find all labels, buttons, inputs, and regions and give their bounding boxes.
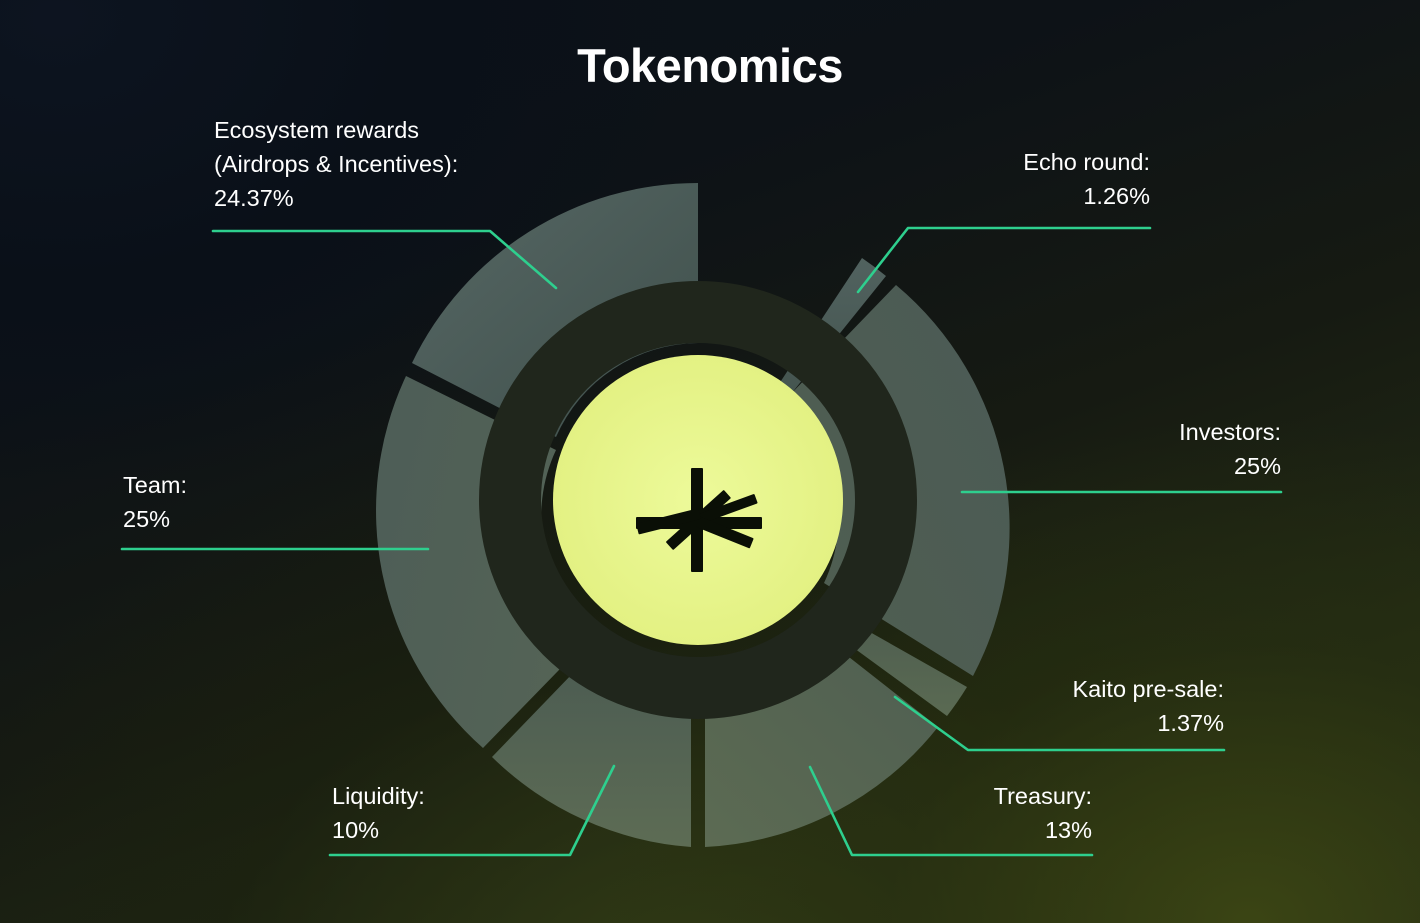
label-echo-round-value: 1.26%	[830, 179, 1150, 213]
label-team-line1: Team:	[123, 468, 187, 502]
label-liquidity-line1: Liquidity:	[332, 779, 425, 813]
leader-line-echo	[858, 228, 1150, 292]
label-treasury: Treasury: 13%	[772, 779, 1092, 847]
label-kaito-presale: Kaito pre-sale: 1.37%	[884, 672, 1224, 740]
label-team: Team: 25%	[123, 468, 187, 536]
label-echo-round-line1: Echo round:	[830, 145, 1150, 179]
label-investors-value: 25%	[961, 449, 1281, 483]
label-ecosystem-line2: (Airdrops & Incentives):	[214, 147, 458, 181]
label-echo-round: Echo round: 1.26%	[830, 145, 1150, 213]
label-kaito-presale-line1: Kaito pre-sale:	[884, 672, 1224, 706]
tokenomics-chart-canvas: Tokenomics	[0, 0, 1420, 923]
label-ecosystem-value: 24.37%	[214, 181, 458, 215]
label-team-value: 25%	[123, 502, 187, 536]
label-investors-line1: Investors:	[961, 415, 1281, 449]
label-investors: Investors: 25%	[961, 415, 1281, 483]
label-treasury-line1: Treasury:	[772, 779, 1092, 813]
label-ecosystem: Ecosystem rewards (Airdrops & Incentives…	[214, 113, 458, 215]
label-liquidity: Liquidity: 10%	[332, 779, 425, 847]
label-ecosystem-line1: Ecosystem rewards	[214, 113, 458, 147]
label-liquidity-value: 10%	[332, 813, 425, 847]
label-treasury-value: 13%	[772, 813, 1092, 847]
label-kaito-presale-value: 1.37%	[884, 706, 1224, 740]
